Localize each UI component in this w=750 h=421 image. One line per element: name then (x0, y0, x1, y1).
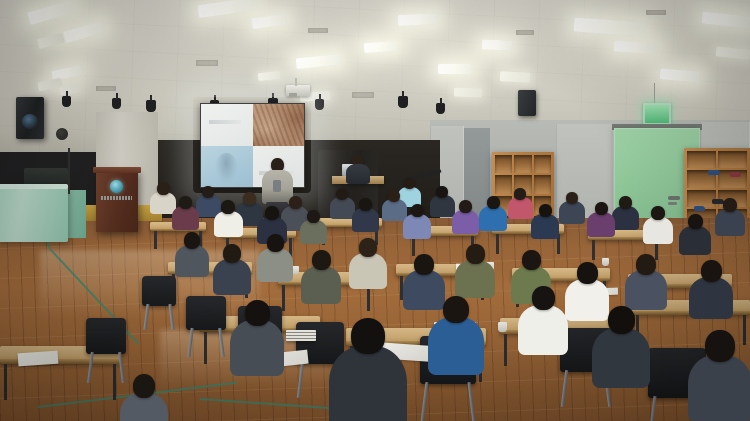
attendee-row3-d-head (436, 186, 448, 198)
ceiling-vent-3 (308, 28, 328, 33)
paper-cup-b (602, 258, 609, 266)
attendee-row4-e-torso (587, 212, 615, 237)
attendee-mid-g-head (466, 244, 485, 264)
attendee-front-denim-head (443, 296, 469, 323)
attendee-row4-c-head (539, 204, 552, 217)
attendee-row1-b-head (179, 196, 192, 209)
attendee-row2-e-torso (352, 208, 379, 232)
ceiling-vent-6 (646, 10, 666, 15)
attendee-row1-a-head (157, 182, 170, 195)
attendee-row4-c-torso (531, 214, 559, 239)
track-spotlight-2 (112, 98, 121, 109)
attendee-front-b-torso (592, 328, 650, 388)
attendee-row3-b-head (411, 204, 424, 217)
ceiling-light-13 (398, 13, 439, 26)
ceiling-light-14 (438, 64, 472, 74)
shelf-cubby (718, 151, 747, 168)
attendee-row5-b-torso (643, 217, 673, 244)
attendee-mid-b-torso (213, 259, 251, 295)
attendee-row3-a-torso (382, 199, 407, 221)
podium-top (93, 167, 141, 173)
microphone-stand (68, 148, 70, 194)
attendee-front-b-head (608, 306, 635, 334)
attendee-row2-c-torso (300, 220, 327, 244)
ceiling-light-17 (500, 71, 530, 83)
paper-cup-d (498, 322, 507, 332)
table-row2-right-leg-left (592, 240, 595, 260)
exit-sign-wire (654, 83, 655, 104)
attendee-mid-k-torso (689, 277, 733, 319)
shelf-cubby (534, 155, 551, 173)
attendee-mid-e-torso (349, 253, 387, 289)
attendee-row1-c-head (202, 186, 214, 198)
attendee-mid-d-torso (301, 266, 341, 304)
podium-logo-emblem (110, 180, 123, 193)
attendee-row5-d-torso (715, 209, 745, 236)
track-spotlight-7 (398, 96, 408, 108)
attendee-row4-b-head (514, 188, 526, 200)
attendee-row2-c-head (307, 210, 320, 223)
paper-cup-c (292, 266, 299, 274)
attendee-front-c-torso (688, 355, 750, 421)
shelf-cubby (534, 175, 551, 193)
door-handle[interactable] (668, 196, 680, 200)
exit-sign-icon (643, 103, 671, 125)
shelf-cubby (687, 151, 716, 168)
attendee-mid-i-head (577, 262, 598, 284)
attendee-front-suit-torso (329, 346, 407, 421)
ceiling-vent-4 (352, 92, 374, 98)
table-front-left-leg-left (4, 364, 7, 400)
table-row2-center-leg-left (496, 234, 499, 254)
shelf-cubby (495, 175, 512, 193)
shelf-cubby (495, 155, 512, 173)
attendee-row5-c-torso (679, 226, 711, 255)
attendee-mid-k-head (701, 260, 722, 282)
ceiling-projector-icon (286, 85, 310, 96)
attendee-mid-a-head (184, 232, 200, 249)
attendee-mid-d-head (312, 250, 331, 270)
table-row1-left-leg-left (154, 231, 157, 249)
attendee-row4-d-head (566, 192, 578, 204)
table-row5-left-leg-left (204, 332, 207, 364)
attendee-mid-b-head (223, 244, 241, 263)
book-stack-left (286, 330, 316, 341)
ceiling-vent-2 (196, 60, 218, 66)
table-row3-center-leg-right (367, 285, 370, 311)
attendee-row3-c-head (404, 178, 415, 189)
attendee-row2-d-head (336, 188, 348, 200)
partition-top-edge (0, 184, 68, 189)
attendee-row3-e-head (459, 200, 472, 213)
attendee-front-suit-head (351, 318, 385, 354)
attendee-mid-f-torso (403, 270, 445, 310)
attendee-row2-a-head (265, 206, 279, 220)
attendee-mid-e-head (359, 238, 377, 257)
track-spotlight-3 (146, 100, 156, 112)
door-handle-secondary[interactable] (668, 202, 677, 205)
pa-speaker-icon-right (518, 90, 536, 116)
chair-d (142, 276, 176, 306)
attendee-front-c-head (705, 330, 735, 362)
attendee-mid-c-head (267, 234, 284, 252)
shoe-1 (694, 206, 705, 211)
attendee-row3-a-head (388, 190, 400, 202)
attendee-mid-g-torso (455, 260, 495, 298)
attendee-row5-c-head (688, 214, 703, 229)
attendee-row4-d-torso (559, 201, 585, 224)
track-spotlight-8 (436, 103, 445, 114)
table-front-right-leg-left (504, 334, 507, 366)
attendee-front-a-head (245, 300, 270, 326)
wall-fixture-icon (56, 128, 68, 140)
attendee-row1-d-torso (214, 211, 243, 237)
shelf-cubby (514, 155, 531, 173)
mint-partition-panel (0, 186, 68, 242)
attendee-row3-b-torso (403, 214, 431, 239)
attendee-front-denim-torso (428, 317, 484, 375)
slide-top-right (253, 104, 305, 146)
table-far-right-leg-right (743, 315, 746, 345)
attendee-row1-d-head (221, 200, 235, 214)
attendee-mid-h-head (522, 250, 541, 270)
attendee-front-d-head (133, 374, 155, 398)
chair-a (186, 296, 226, 330)
attendee-front-striped-head (532, 286, 555, 310)
attendee-mid-a-torso (175, 245, 209, 277)
table-row3-center-leg-left (282, 285, 285, 311)
shoe-6 (730, 172, 741, 177)
attendee-row5-a-head (619, 196, 632, 209)
attendee-mid-c-torso (257, 248, 293, 282)
ceiling-vent-1 (96, 86, 116, 91)
paper-stack-f (18, 351, 59, 367)
attendee-row4-e-head (595, 202, 608, 215)
attendee-mid-j-head (636, 254, 656, 275)
ceiling-vent-5 (516, 30, 534, 35)
slide-top-left (201, 104, 253, 146)
attendee-mid-f-head (414, 254, 434, 275)
lecture-hall-photograph: A presenter stands in front of a project… (0, 0, 750, 421)
track-spotlight-1 (62, 96, 71, 107)
attendee-row5-b-head (651, 206, 665, 220)
attendee-row4-a-head (487, 196, 500, 209)
attendee-mid-j-torso (625, 270, 667, 310)
attendee-row2-e-head (359, 198, 372, 211)
podium-logo-text (101, 196, 132, 200)
attendee-front-striped-torso (518, 305, 568, 355)
ceiling-light-15 (454, 88, 482, 98)
attendee-row2-b-head (289, 196, 302, 209)
attendee-row1-e-head (243, 192, 256, 205)
attendee-row4-b-torso (508, 197, 533, 219)
attendee-row1-b-torso (172, 206, 199, 230)
slide-bottom-left (201, 146, 253, 188)
attendee-mid-i-torso (565, 279, 609, 321)
attendee-front-a-torso (230, 320, 284, 376)
attendee-row3-d-torso (430, 195, 455, 217)
attendee-row5-d-head (723, 198, 737, 212)
attendee-row4-a-torso (479, 206, 507, 231)
ceiling-light-16 (482, 39, 512, 50)
shoe-5 (708, 170, 720, 175)
track-spotlight-6 (315, 99, 324, 110)
table-front-left-leg-right (113, 364, 116, 400)
attendee-row3-e-torso (452, 210, 479, 234)
pa-speaker-icon-left (16, 97, 44, 139)
chair-h (86, 318, 126, 354)
attendee-row5-a-torso (612, 206, 639, 230)
shelf-cubby (687, 190, 716, 207)
